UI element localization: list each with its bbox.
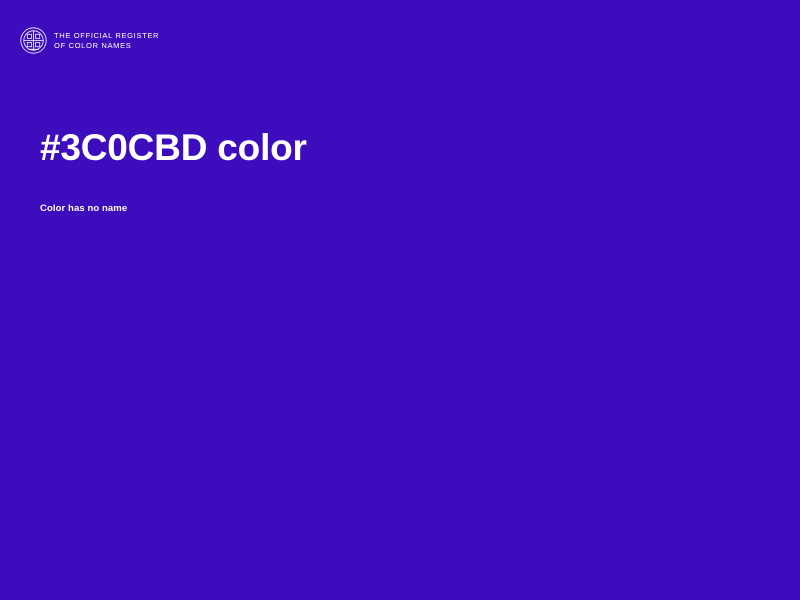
brand-header[interactable]: THE OFFICIAL REGISTER OF COLOR NAMES <box>20 27 159 54</box>
brand-wordmark: THE OFFICIAL REGISTER OF COLOR NAMES <box>54 30 159 50</box>
color-page: THE OFFICIAL REGISTER OF COLOR NAMES #3C… <box>0 0 800 600</box>
page-title: #3C0CBD color <box>40 125 760 171</box>
official-register-seal-icon <box>20 27 47 54</box>
color-name-status: Color has no name <box>40 171 760 216</box>
brand-wordmark-line-1: THE OFFICIAL REGISTER <box>54 31 159 41</box>
main-content: #3C0CBD color Color has no name <box>40 125 760 216</box>
brand-wordmark-line-2: OF COLOR NAMES <box>54 41 159 51</box>
